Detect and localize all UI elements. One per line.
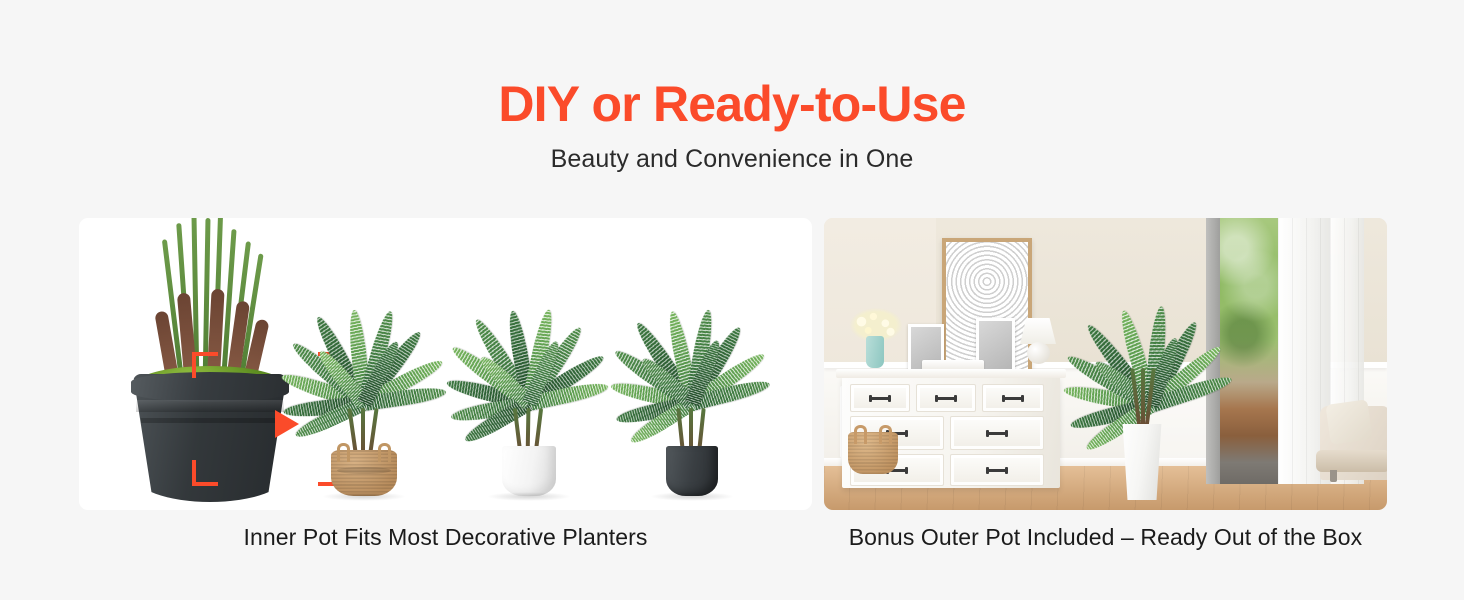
pot-shadow bbox=[650, 492, 734, 501]
table-lamp-base bbox=[1027, 342, 1050, 364]
sofa-cushion bbox=[1325, 399, 1372, 444]
dresser-drawer bbox=[950, 454, 1044, 486]
dresser-top bbox=[836, 369, 1066, 378]
woven-basket-planter bbox=[331, 450, 397, 496]
corner-bracket-top-left-icon bbox=[192, 352, 218, 378]
basket-handle-left bbox=[854, 425, 867, 444]
basket-handle-left bbox=[337, 443, 350, 462]
woven-floor-basket bbox=[848, 432, 898, 474]
page-title: DIY or Ready-to-Use bbox=[0, 0, 1464, 132]
pot-shadow bbox=[487, 492, 571, 501]
outer-pot-panel bbox=[824, 218, 1387, 510]
banner-header: DIY or Ready-to-Use Beauty and Convenien… bbox=[0, 0, 1464, 174]
dresser-drawer bbox=[850, 384, 910, 412]
dresser-drawer bbox=[982, 384, 1044, 412]
drawer-pull bbox=[869, 397, 891, 400]
flower-vase bbox=[866, 336, 884, 368]
pot-shadow bbox=[322, 492, 406, 501]
dresser-drawer bbox=[950, 416, 1044, 450]
drawer-pull bbox=[986, 469, 1008, 472]
palm-trunks bbox=[1132, 368, 1154, 430]
drawer-pull bbox=[935, 397, 957, 400]
palm-in-woven-basket bbox=[269, 240, 459, 510]
white-ceramic-planter bbox=[502, 446, 556, 496]
sofa-leg bbox=[1330, 470, 1337, 482]
sofa-seat bbox=[1316, 450, 1387, 472]
product-feature-banner: DIY or Ready-to-Use Beauty and Convenien… bbox=[0, 0, 1464, 600]
basket-handle-right bbox=[378, 443, 391, 462]
inner-pot-panel-caption: Inner Pot Fits Most Decorative Planters bbox=[79, 522, 812, 552]
drawer-pull bbox=[1002, 397, 1024, 400]
drawer-pull bbox=[986, 432, 1008, 435]
dresser-drawer bbox=[916, 384, 976, 412]
page-subtitle: Beauty and Convenience in One bbox=[0, 132, 1464, 174]
feature-cards bbox=[0, 218, 1464, 518]
inner-pot-panel bbox=[79, 218, 812, 510]
palm-in-dark-pot bbox=[597, 240, 787, 510]
basket-handle-right bbox=[879, 425, 892, 444]
inner-pot-lip bbox=[136, 400, 284, 412]
room-scene-illustration bbox=[824, 218, 1387, 510]
inner-pot-band bbox=[141, 418, 279, 423]
charcoal-ceramic-planter bbox=[666, 446, 718, 496]
outer-pot-panel-caption: Bonus Outer Pot Included – Ready Out of … bbox=[824, 522, 1387, 552]
inner-pot-illustration bbox=[79, 218, 812, 510]
palm-plant bbox=[1060, 246, 1242, 486]
corner-bracket-bottom-left-icon bbox=[192, 460, 218, 486]
palm-in-white-pot bbox=[434, 240, 624, 510]
